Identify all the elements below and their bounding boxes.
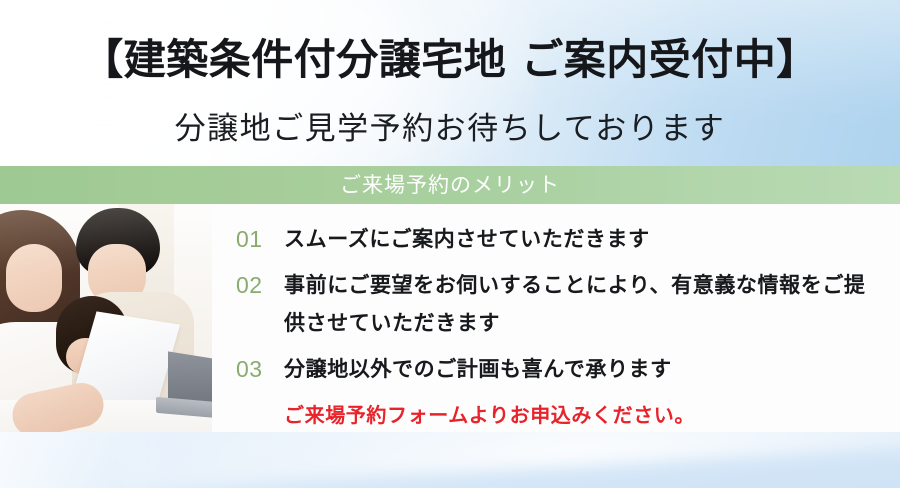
benefit-number: 01 — [236, 220, 284, 258]
list-item: 02 事前にご要望をお伺いすることにより、有意義な情報をご提供させていただきます — [236, 266, 886, 342]
benefit-text: スムーズにご案内させていただきます — [284, 220, 886, 258]
benefit-text: 事前にご要望をお伺いすることにより、有意義な情報をご提供させていただきます — [284, 266, 886, 342]
page-subtitle: 分譲地ご見学予約お待ちしております — [0, 103, 900, 148]
photo-highlight-overlay — [0, 204, 212, 432]
list-item: 01 スムーズにご案内させていただきます — [236, 220, 886, 258]
benefits-list: 01 スムーズにご案内させていただきます 02 事前にご要望をお伺いすることによ… — [236, 220, 886, 430]
page-title: 【建築条件付分譲宅地 ご案内受付中】 — [0, 26, 900, 87]
benefit-number: 03 — [236, 350, 284, 388]
benefits-panel: 01 スムーズにご案内させていただきます 02 事前にご要望をお伺いすることによ… — [212, 204, 900, 432]
benefit-text: 分譲地以外でのご計画も喜んで承ります — [284, 350, 886, 388]
list-item: 03 分譲地以外でのご計画も喜んで承ります — [236, 350, 886, 388]
merit-bar: ご来場予約のメリット — [0, 166, 900, 204]
footer-band — [0, 432, 900, 488]
merit-bar-label: ご来場予約のメリット — [0, 166, 900, 204]
reservation-form-cta[interactable]: ご来場予約フォームよりお申込みください。 — [284, 400, 886, 430]
promo-banner: 【建築条件付分譲宅地 ご案内受付中】 分譲地ご見学予約お待ちしております ご来場… — [0, 0, 900, 488]
benefit-number: 02 — [236, 266, 284, 304]
footer-left-fade-decoration — [0, 432, 300, 488]
family-photo — [0, 204, 212, 432]
